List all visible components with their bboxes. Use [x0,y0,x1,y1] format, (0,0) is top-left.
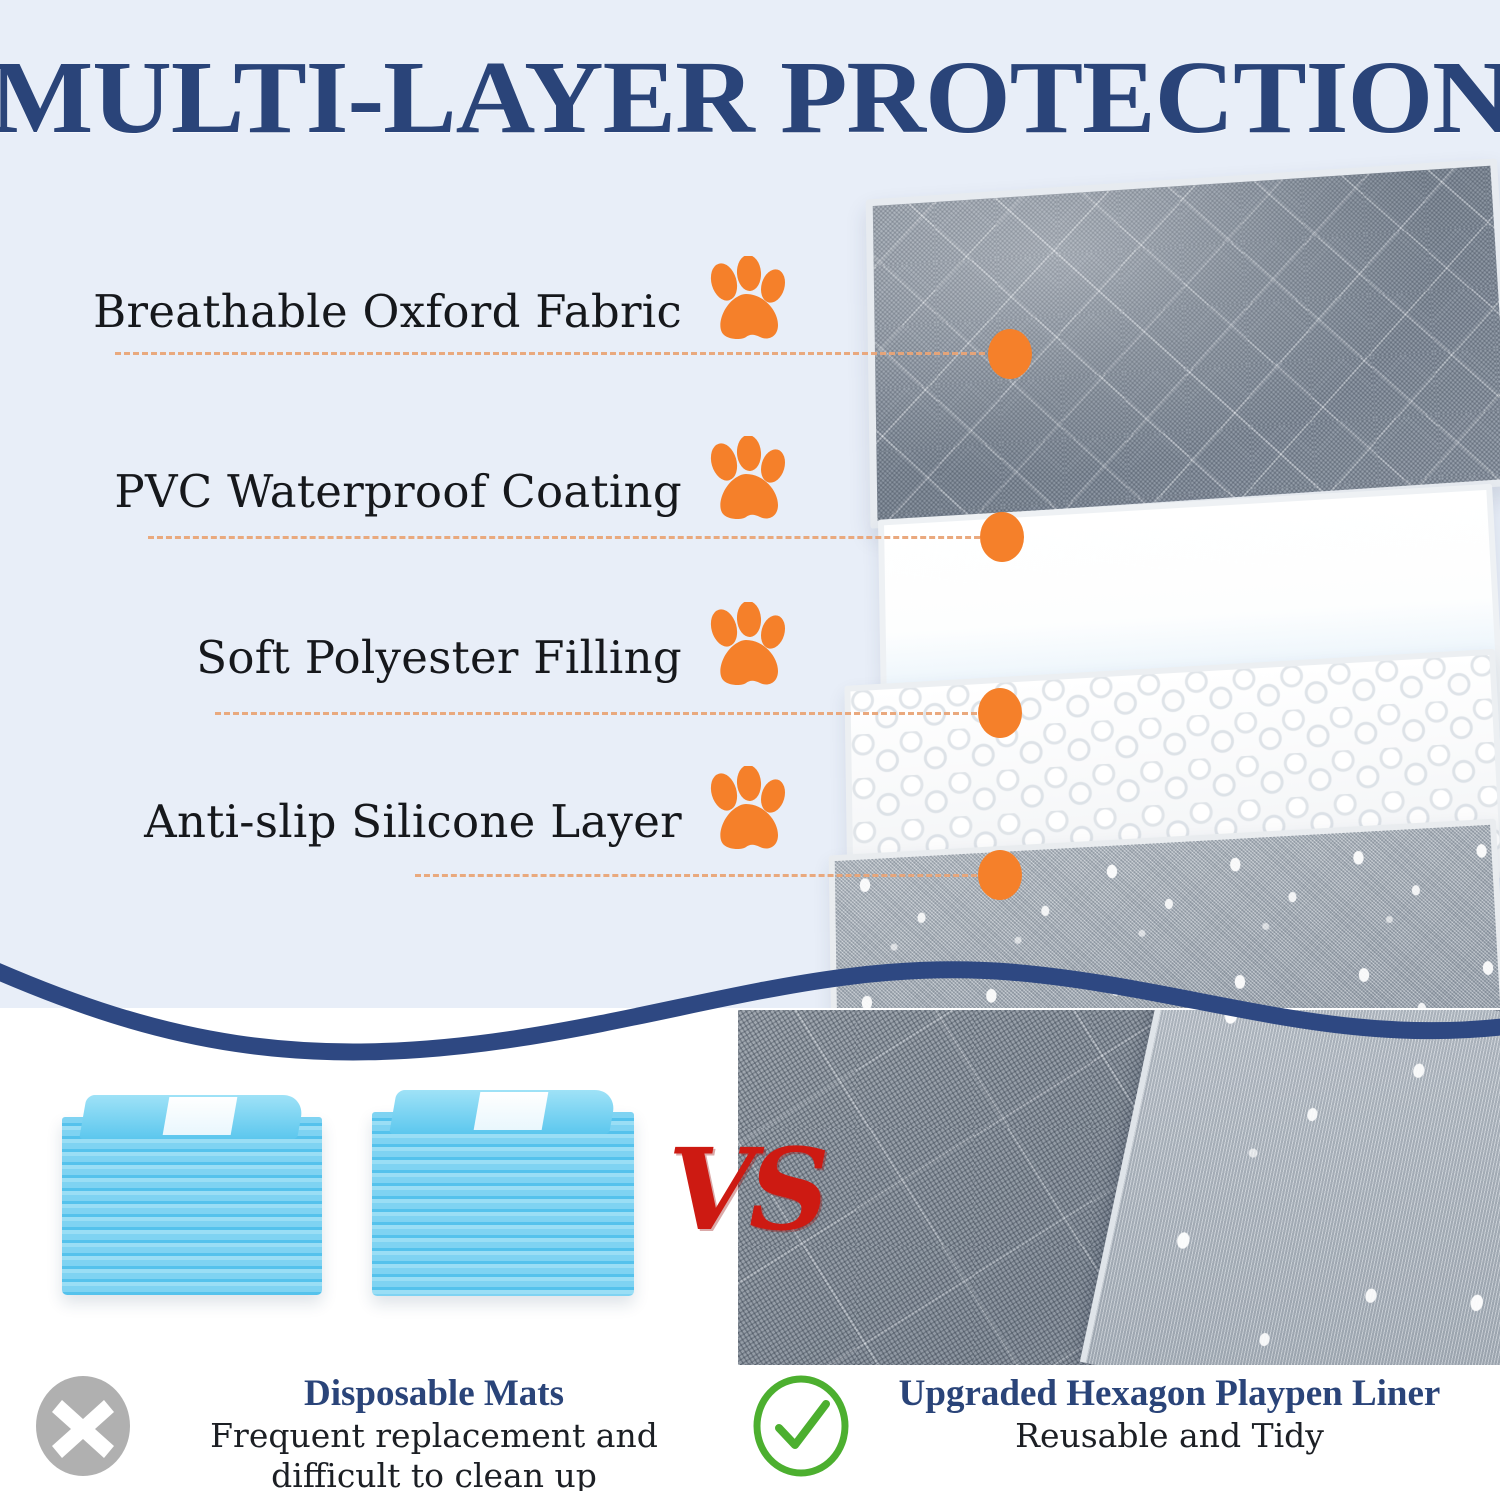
layer-sheet-oxford-fabric [866,158,1500,528]
infographic-page: MULTI-LAYER PROTECTION Breathable Oxford… [0,0,1500,1491]
layer-label-2: PVC Waterproof Coating [114,465,682,518]
layer-row-2: PVC Waterproof Coating [0,438,800,548]
connector-dot-4 [978,850,1022,900]
connector-line-4 [415,874,995,877]
connector-dot-3 [978,688,1022,738]
cross-circle-icon [34,1374,132,1478]
layer-row-4: Anti-slip Silicone Layer [0,768,800,878]
layer-label-1: Breathable Oxford Fabric [93,285,682,338]
caption-hexagon-liner: Upgraded Hexagon Playpen Liner Reusable … [752,1372,1482,1490]
connector-line-2 [148,536,998,539]
caption-title: Upgraded Hexagon Playpen Liner [862,1372,1477,1416]
caption-subtitle-line1: Frequent replacement and [144,1416,724,1456]
wave-divider [0,930,1500,1110]
versus-mark: VS [668,1116,820,1288]
caption-disposable-mats: Disposable Mats Frequent replacement and… [34,1372,734,1490]
paw-print-icon [702,602,790,692]
caption-title: Disposable Mats [144,1372,724,1416]
disposable-pad-stack-right [372,1090,634,1296]
disposable-pad-stack-left [62,1095,322,1295]
check-circle-icon [752,1374,850,1478]
page-title: MULTI-LAYER PROTECTION [0,46,1500,150]
caption-subtitle-line1: Reusable and Tidy [862,1416,1477,1456]
connector-dot-1 [988,329,1032,379]
connector-line-1 [115,352,1012,355]
connector-dot-2 [980,512,1024,562]
layer-row-3: Soft Polyester Filling [0,604,800,714]
paw-print-icon [702,436,790,526]
paw-print-icon [702,766,790,856]
multi-layer-section: MULTI-LAYER PROTECTION Breathable Oxford… [0,0,1500,1080]
caption-subtitle-line2: difficult to clean up [144,1456,724,1491]
layer-label-3: Soft Polyester Filling [196,631,682,684]
paw-print-icon [702,256,790,346]
layer-label-4: Anti-slip Silicone Layer [144,795,682,848]
connector-line-3 [215,712,995,715]
